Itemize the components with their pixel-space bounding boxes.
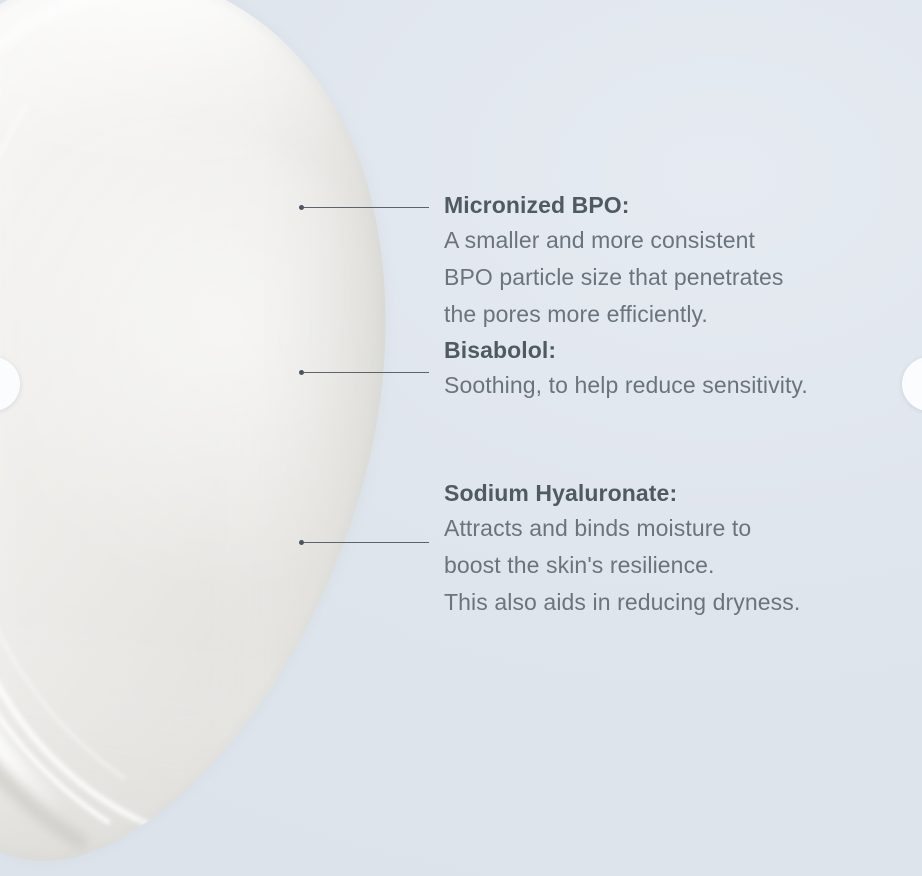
callout-text-block: Micronized BPO: A smaller and more consi… — [444, 188, 922, 333]
leader-rule-icon — [302, 207, 429, 208]
leader-rule-icon — [302, 372, 429, 373]
callout-body: Attracts and binds moisture to boost the… — [444, 510, 922, 621]
callout-body-line: BPO particle size that penetrates — [444, 259, 922, 296]
ingredient-callout-list: Micronized BPO: A smaller and more consi… — [0, 0, 922, 876]
callout-title: Micronized BPO: — [444, 188, 922, 222]
ingredient-callout-slide: Micronized BPO: A smaller and more consi… — [0, 0, 922, 876]
leader-dot-icon — [299, 540, 304, 545]
leader-line-icon — [299, 538, 429, 547]
leader-rule-icon — [302, 542, 429, 543]
leader-dot-icon — [299, 205, 304, 210]
callout-body-line: the pores more efficiently. — [444, 296, 922, 333]
callout-body: A smaller and more consistent BPO partic… — [444, 222, 922, 333]
callout-body-line: Attracts and binds moisture to — [444, 510, 922, 547]
callout-title: Bisabolol: — [444, 333, 922, 367]
callout-title: Sodium Hyaluronate: — [444, 476, 922, 510]
callout-body-line: boost the skin's resilience. — [444, 547, 922, 584]
callout-body-line: Soothing, to help reduce sensitivity. — [444, 367, 922, 404]
callout-body: Soothing, to help reduce sensitivity. — [444, 367, 922, 404]
leader-dot-icon — [299, 370, 304, 375]
leader-line-icon — [299, 203, 429, 212]
callout-text-block: Bisabolol: Soothing, to help reduce sens… — [444, 333, 922, 404]
callout-body-line: A smaller and more consistent — [444, 222, 922, 259]
callout-text-block: Sodium Hyaluronate: Attracts and binds m… — [444, 476, 922, 621]
callout-body-line: This also aids in reducing dryness. — [444, 584, 922, 621]
leader-line-icon — [299, 368, 429, 377]
